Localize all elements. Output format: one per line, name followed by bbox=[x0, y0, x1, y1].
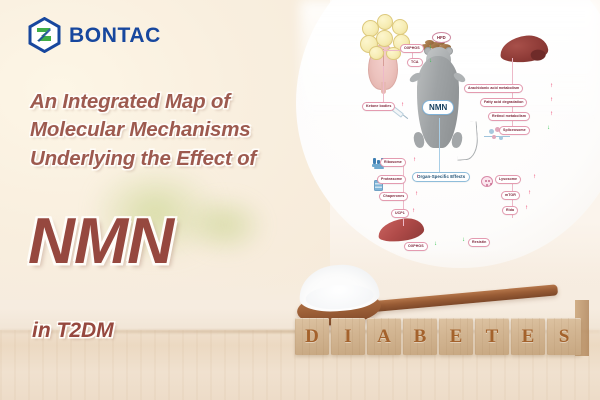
diagram-node-resistin[interactable]: Resistin bbox=[468, 238, 490, 247]
block-letter: I bbox=[344, 326, 351, 348]
block-letter: B bbox=[414, 326, 427, 348]
diagram-label-organ-specific-effects[interactable]: Organ-Specific Effects bbox=[412, 172, 470, 182]
diagram-node-proteasome[interactable]: Proteasome bbox=[377, 175, 406, 184]
block-letter: E bbox=[450, 326, 463, 348]
title-line-2: Molecular Mechanisms bbox=[30, 116, 330, 144]
arrow-up-icon: ↑ bbox=[550, 83, 553, 89]
diagram-node-oxphos-brain[interactable]: OXPHOS bbox=[400, 44, 424, 53]
brand-name: BONTAC bbox=[69, 25, 161, 46]
adipose-tissue-illustration bbox=[360, 14, 412, 60]
block-letter: S bbox=[559, 326, 570, 348]
diabetes-letter-blocks: D I A B E T E S bbox=[295, 318, 581, 355]
arrow-down-icon: ↓ bbox=[434, 241, 437, 247]
letter-block: E bbox=[511, 318, 545, 355]
arrow-up-icon: ↑ bbox=[401, 102, 404, 108]
letter-block: D bbox=[295, 318, 329, 355]
diagram-node-ucp1[interactable]: UCP1 bbox=[391, 209, 409, 218]
diagram-node-retinol-metabolism[interactable]: Retinol metabolism bbox=[488, 112, 530, 121]
diagram-node-tca[interactable]: TCA bbox=[407, 58, 423, 67]
mechanism-diagram: HFD NMN Organ-Specific Effects OXPHOS ↓ … bbox=[360, 14, 600, 274]
letter-block: B bbox=[403, 318, 437, 355]
arrow-up-icon: ↑ bbox=[528, 190, 531, 196]
title-subtitle: in T2DM bbox=[32, 320, 114, 341]
diagram-label-nmn[interactable]: NMN bbox=[422, 100, 454, 115]
lysosome-illustration bbox=[481, 176, 493, 187]
connector-nmn-to-effects bbox=[439, 118, 440, 174]
mouse-tail-illustration bbox=[455, 121, 480, 160]
arrow-up-icon: ↑ bbox=[533, 174, 536, 180]
letter-block: S bbox=[547, 318, 581, 355]
diagram-node-mtor[interactable]: mTOR bbox=[501, 191, 520, 200]
arrow-down-icon: ↓ bbox=[547, 125, 550, 131]
letter-block: A bbox=[367, 318, 401, 355]
title-keyword: NMN bbox=[28, 208, 173, 273]
connector-brain-top bbox=[383, 50, 401, 51]
arrow-up-icon: ↑ bbox=[412, 208, 415, 214]
muscle-illustration bbox=[377, 216, 425, 243]
block-letter: E bbox=[522, 326, 535, 348]
bontac-hexagon-leaf-logo bbox=[28, 17, 61, 53]
block-letter: D bbox=[305, 326, 319, 348]
diagram-label-hfd[interactable]: HFD bbox=[432, 32, 451, 43]
poster-canvas: BONTAC An Integrated Map of Molecular Me… bbox=[0, 0, 600, 400]
block-letter: A bbox=[377, 326, 391, 348]
block-letter: T bbox=[486, 326, 499, 348]
diagram-node-arachidonic-acid-metabolism[interactable]: Arachidonic acid metabolism bbox=[464, 84, 523, 93]
title-line-3: Underlying the Effect of bbox=[30, 145, 330, 173]
diagram-node-lysosome[interactable]: Lysosome bbox=[495, 175, 521, 184]
diagram-node-oxphos-muscle[interactable]: OXPHOS bbox=[404, 242, 428, 251]
diagram-node-fatty-acid-degradation[interactable]: Fatty acid degradation bbox=[480, 98, 527, 107]
arrow-down-icon: ↓ bbox=[429, 44, 432, 50]
letter-block: I bbox=[331, 318, 365, 355]
title-line-1: An Integrated Map of bbox=[30, 88, 330, 116]
brand-logo[interactable]: BONTAC bbox=[28, 17, 161, 53]
diagram-node-rida[interactable]: Rida bbox=[502, 206, 518, 215]
arrow-down-icon: ↓ bbox=[462, 237, 465, 243]
arrow-up-icon: ↑ bbox=[413, 157, 416, 163]
liver-illustration bbox=[499, 34, 549, 65]
diagram-node-chaperones[interactable]: Chaperones bbox=[379, 192, 408, 201]
arrow-up-icon: ↑ bbox=[416, 174, 419, 180]
background-green-bokeh-secondary bbox=[185, 195, 265, 255]
diagram-node-spliceosome[interactable]: Spliceosome bbox=[499, 126, 530, 135]
diagram-node-ketone-bodies[interactable]: Ketone bodies bbox=[362, 102, 395, 111]
diagram-node-ribosome[interactable]: Ribosome bbox=[380, 158, 406, 167]
arrow-up-icon: ↑ bbox=[550, 97, 553, 103]
arrow-up-icon: ↑ bbox=[415, 191, 418, 197]
arrow-up-icon: ↑ bbox=[550, 111, 553, 117]
arrow-down-icon: ↓ bbox=[429, 58, 432, 64]
page-title: An Integrated Map of Molecular Mechanism… bbox=[30, 88, 330, 173]
arrow-up-icon: ↑ bbox=[525, 205, 528, 211]
letter-block: T bbox=[475, 318, 509, 355]
letter-block: E bbox=[439, 318, 473, 355]
connector-brain-stem bbox=[383, 66, 384, 106]
